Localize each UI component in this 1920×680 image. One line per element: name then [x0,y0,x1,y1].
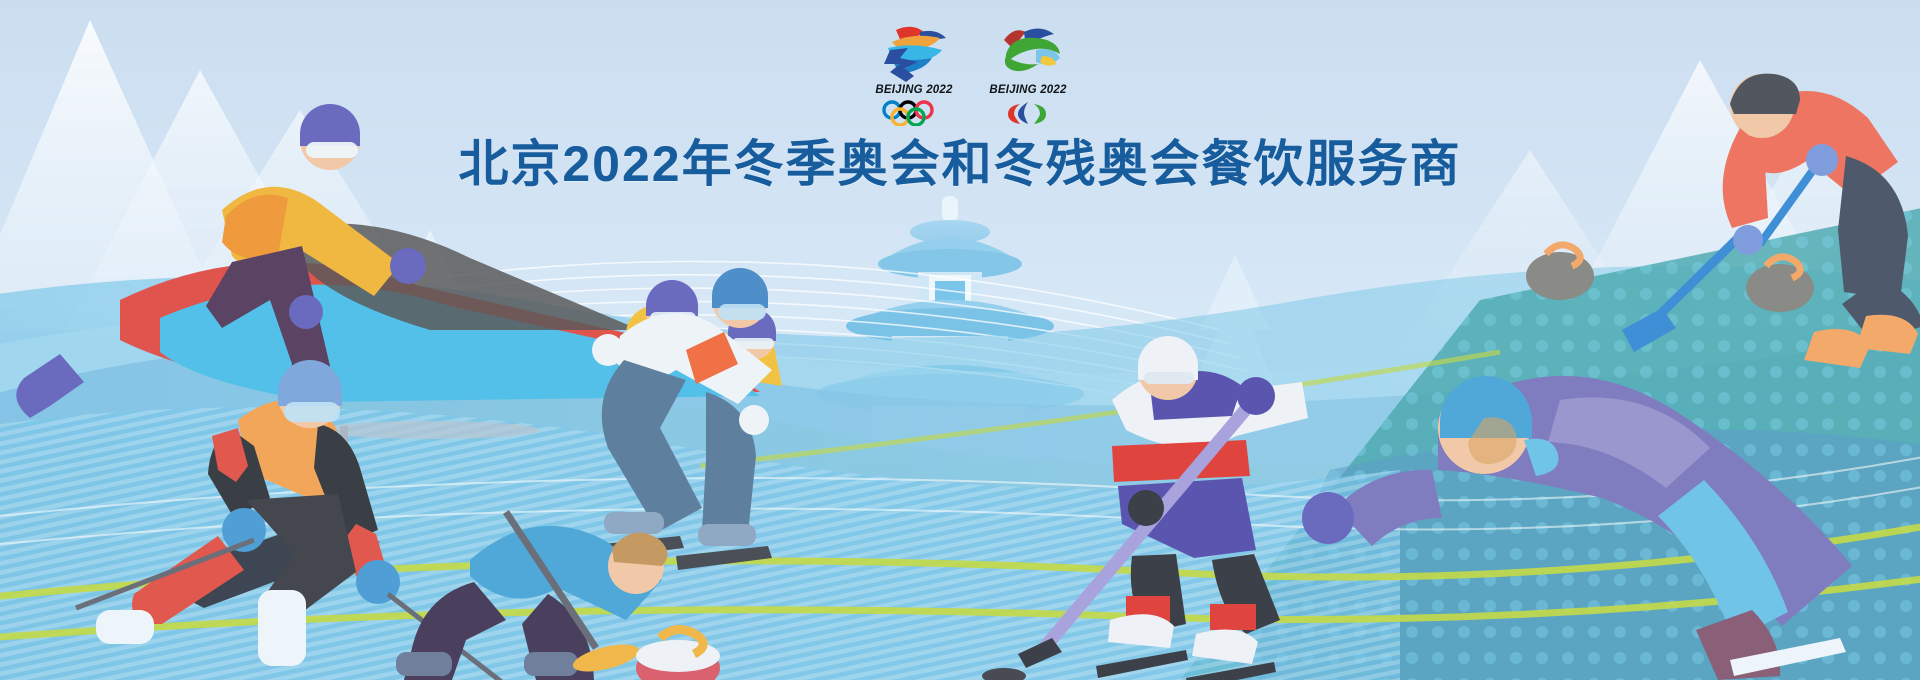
paralympic-emblem-wordmark: BEIJING 2022 [980,84,1076,97]
olympic-emblem-mark [866,22,962,84]
emblem-row: BEIJING 2022 [861,22,1081,130]
paralympic-emblem-mark [980,22,1076,84]
olympic-banner: BEIJING 2022 [0,0,1920,680]
page-title: 北京2022年冬季奥会和冬残奥会餐饮服务商 [0,124,1920,196]
olympic-rings-icon [866,100,962,126]
olympic-emblem-wordmark: BEIJING 2022 [866,84,962,97]
beijing-2022-paralympic-emblem: BEIJING 2022 [980,22,1076,128]
beijing-2022-olympic-emblem: BEIJING 2022 [866,22,962,128]
agitos-icon [980,100,1076,126]
